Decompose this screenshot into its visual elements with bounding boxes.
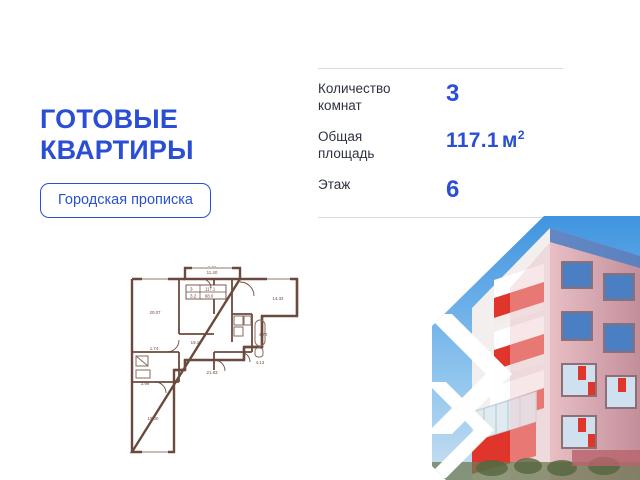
spec-label-area-line-1: Общая [318,129,446,146]
spec-value-area-number: 117.1 [446,129,499,152]
spec-value-area: 117.1м2 [446,129,525,151]
spec-value-area-unit: м [502,129,518,152]
svg-text:4.13: 4.13 [256,360,265,365]
city-registration-button[interactable]: Городская прописка [40,183,211,219]
spec-label-area: Общая площадь [318,129,446,163]
building-photo[interactable] [432,216,640,480]
spec-value-floor-number: 6 [446,176,460,203]
spec-label-area-line-2: площадь [318,146,446,163]
svg-text:1.74: 1.74 [150,346,159,351]
svg-text:19.11: 19.11 [191,340,202,345]
spec-row-list: Количество комнат 3 Общая площадь 117.1м… [318,69,563,217]
apartment-specs: Количество комнат 3 Общая площадь 117.1м… [318,68,563,218]
svg-text:3.99: 3.99 [141,381,150,386]
spec-label-rooms-line-1: Количество [318,81,446,98]
svg-text:3: 3 [190,287,193,292]
svg-text:4.70: 4.70 [259,332,268,337]
spec-value-area-exponent: 2 [518,128,525,142]
floorplan-image[interactable]: 3 3.2 117.1 68.0 20.07 14.32 19.11 21.83… [122,252,307,457]
svg-text:68.0: 68.0 [205,294,214,299]
spec-row-floor: Этаж 6 [318,177,563,202]
svg-text:21.83: 21.83 [207,370,219,375]
spec-value-rooms: 3 [446,81,460,106]
spec-row-rooms: Количество комнат 3 [318,81,563,115]
svg-text:117.1: 117.1 [205,287,216,292]
spec-label-floor: Этаж [318,177,446,194]
page-title: ГОТОВЫЕ КВАРТИРЫ [40,104,290,167]
page-title-line-1: ГОТОВЫЕ [40,104,290,135]
spec-label-rooms-line-2: комнат [318,98,446,115]
spec-value-rooms-number: 3 [446,80,460,107]
promo-heading-block: ГОТОВЫЕ КВАРТИРЫ Городская прописка [40,104,290,218]
svg-text:20.07: 20.07 [150,310,162,315]
svg-text:14.32: 14.32 [273,296,285,301]
svg-text:3.2: 3.2 [190,294,197,299]
spec-label-rooms: Количество комнат [318,81,446,115]
spec-value-floor: 6 [446,177,460,202]
svg-text:11.40: 11.40 [207,270,218,275]
svg-text:15.00: 15.00 [148,416,160,421]
spec-row-area: Общая площадь 117.1м2 [318,129,563,163]
page-title-line-2: КВАРТИРЫ [40,135,290,166]
spec-label-floor-line-1: Этаж [318,177,446,194]
listing-card: ГОТОВЫЕ КВАРТИРЫ Городская прописка Коли… [0,0,640,480]
